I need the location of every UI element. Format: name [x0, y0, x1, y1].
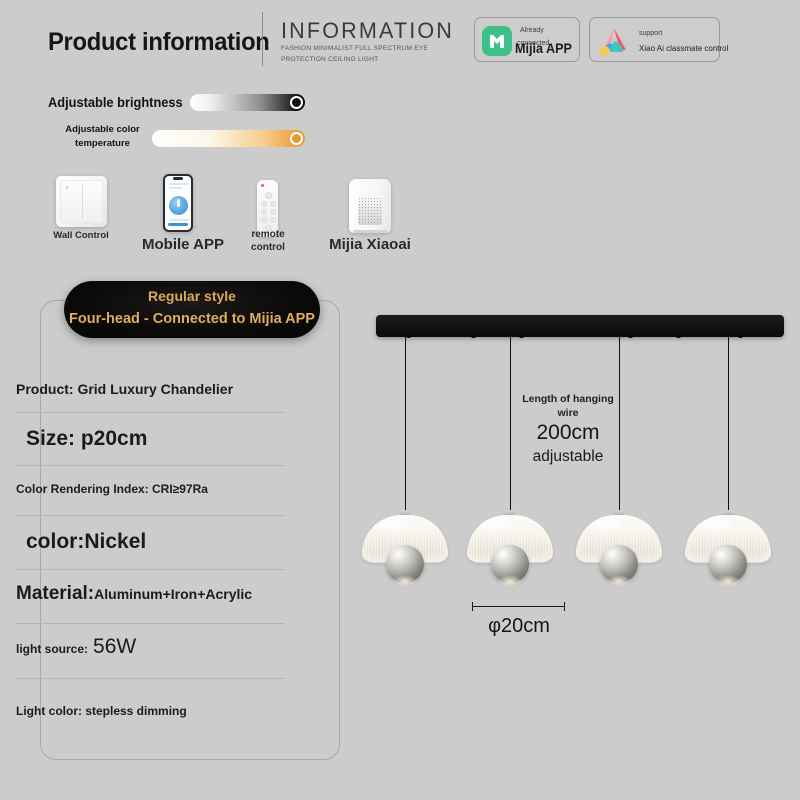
spec-row-light-source: light source:56W	[0, 635, 300, 659]
header-divider	[262, 12, 263, 66]
speaker-grille	[358, 197, 382, 225]
wire-note-adjustable: adjustable	[512, 447, 624, 467]
bar-wire-hole	[406, 335, 411, 338]
color-temperature-slider-knob[interactable]	[290, 132, 303, 145]
diameter-dimension-line	[472, 606, 565, 607]
wall-switch-indicator	[66, 186, 68, 189]
spec-value-color: Nickel	[84, 530, 146, 553]
phone-app-dial	[169, 196, 188, 215]
control-label-remote: remote control	[235, 229, 301, 254]
spec-row-color: color:Nickel	[0, 530, 300, 554]
badge-mijia-app[interactable]: Already connected Mijia APP	[474, 17, 580, 62]
style-pill-title: Regular style	[64, 288, 320, 304]
page-title: Product information	[48, 28, 270, 57]
mijia-logo-icon	[482, 26, 512, 56]
bar-wire-hole	[519, 335, 524, 338]
remote-button	[261, 217, 267, 223]
page-header: Product information INFORMATION FASHION …	[0, 0, 800, 80]
wall-switch-face	[60, 180, 103, 223]
speaker-base	[353, 230, 387, 233]
dome-highlight	[589, 520, 623, 535]
header-information-word: INFORMATION	[281, 18, 454, 44]
dome-highlight	[480, 520, 514, 535]
spec-value-material: Aluminum+Iron+Acrylic	[94, 586, 252, 602]
light-glow	[606, 575, 632, 588]
spec-row-light-color: Light color: stepless dimming	[0, 702, 300, 720]
spec-row-material: Material:Aluminum+Iron+Acrylic	[0, 583, 300, 605]
remote-button	[270, 201, 276, 207]
spec-label-color: color:	[26, 530, 84, 553]
spec-label-material: Material:	[16, 583, 94, 604]
remote-button	[265, 192, 272, 199]
badge-mijia-line1: Already	[520, 27, 544, 34]
wall-switch-divider	[82, 184, 83, 219]
light-glow	[392, 575, 418, 588]
badge-xiaoai-line2: Xiao Ai classmate control	[639, 44, 728, 53]
mijia-speaker-icon	[349, 179, 391, 233]
phone-notch	[173, 177, 183, 180]
spec-divider	[16, 569, 284, 570]
wire-note-line1: Length of hanging	[512, 392, 624, 406]
ceiling-bar	[376, 315, 784, 337]
brightness-slider[interactable]	[190, 94, 305, 111]
bar-wire-hole	[738, 335, 743, 338]
product-diagram	[360, 290, 800, 710]
control-label-wall: Wall Control	[47, 230, 115, 242]
wall-switch-icon	[56, 176, 107, 227]
phone-screen	[165, 176, 191, 230]
smartphone-app-icon	[163, 174, 193, 232]
hanging-wire	[405, 337, 406, 515]
remote-button	[261, 201, 267, 207]
remote-button	[270, 217, 276, 223]
light-glow	[497, 575, 523, 588]
hanging-wire-annotation: Length of hanging wire 200cm adjustable	[512, 392, 624, 467]
spec-divider	[16, 412, 284, 413]
color-temperature-slider-label: Adjustable color temperature	[60, 123, 145, 151]
spec-divider	[16, 515, 284, 516]
bar-wire-hole	[676, 335, 681, 338]
remote-button	[270, 209, 276, 215]
phone-ui-bar	[169, 219, 189, 221]
spec-divider	[16, 678, 284, 679]
spec-row-product: Product: Grid Luxury Chandelier	[0, 381, 300, 399]
spec-label-product: Product: Grid Luxury Chandelier	[16, 381, 233, 397]
color-temperature-slider[interactable]	[152, 130, 305, 147]
product-information-page: Product information INFORMATION FASHION …	[0, 0, 800, 800]
style-pill-subtitle: Four-head - Connected to Mijia APP	[2, 311, 382, 327]
diameter-label: φ20cm	[455, 615, 583, 638]
spec-label-light-source: light source:	[16, 642, 88, 656]
remote-led	[261, 184, 264, 187]
spec-row-cri: Color Rendering Index: CRI≥97Ra	[0, 480, 300, 498]
spec-divider	[16, 465, 284, 466]
wire-note-line2: wire	[512, 406, 624, 420]
badge-xiaoai-line1: support	[639, 30, 662, 37]
style-pill-badge: Regular style Four-head - Connected to M…	[64, 281, 320, 338]
bar-wire-hole	[628, 335, 633, 338]
spec-value-light-source: 56W	[93, 635, 136, 658]
control-label-app: Mobile APP	[128, 236, 238, 255]
control-label-mijia-xiaoai: Mijia Xiaoai	[313, 236, 427, 255]
spec-label-cri: Color Rendering Index: CRI≥97Ra	[16, 482, 208, 496]
dome-highlight	[698, 520, 732, 535]
bar-wire-hole	[471, 335, 476, 338]
xiaoai-logo-icon	[596, 24, 632, 58]
badge-xiaoai-support[interactable]: support Xiao Ai classmate control	[589, 17, 720, 62]
spec-label-light-color: Light color: stepless dimming	[16, 704, 187, 718]
remote-button	[261, 209, 267, 215]
spec-label-size: Size: p20cm	[26, 427, 147, 450]
phone-app-button	[168, 223, 188, 226]
light-glow	[715, 575, 741, 588]
phone-ui-bar	[169, 187, 182, 189]
header-subtitle: FASHION MINIMALIST FULL SPECTRUM EYE PRO…	[281, 43, 471, 66]
phone-ui-bar	[169, 183, 189, 185]
spec-divider	[16, 623, 284, 624]
brightness-slider-knob[interactable]	[290, 96, 303, 109]
dome-highlight	[375, 520, 409, 535]
badge-mijia-title: Mijia APP	[515, 40, 572, 56]
brightness-slider-label: Adjustable brightness	[48, 95, 183, 110]
hanging-wire	[728, 337, 729, 515]
spec-row-size: Size: p20cm	[0, 427, 300, 451]
wire-length-value: 200cm	[512, 420, 624, 446]
